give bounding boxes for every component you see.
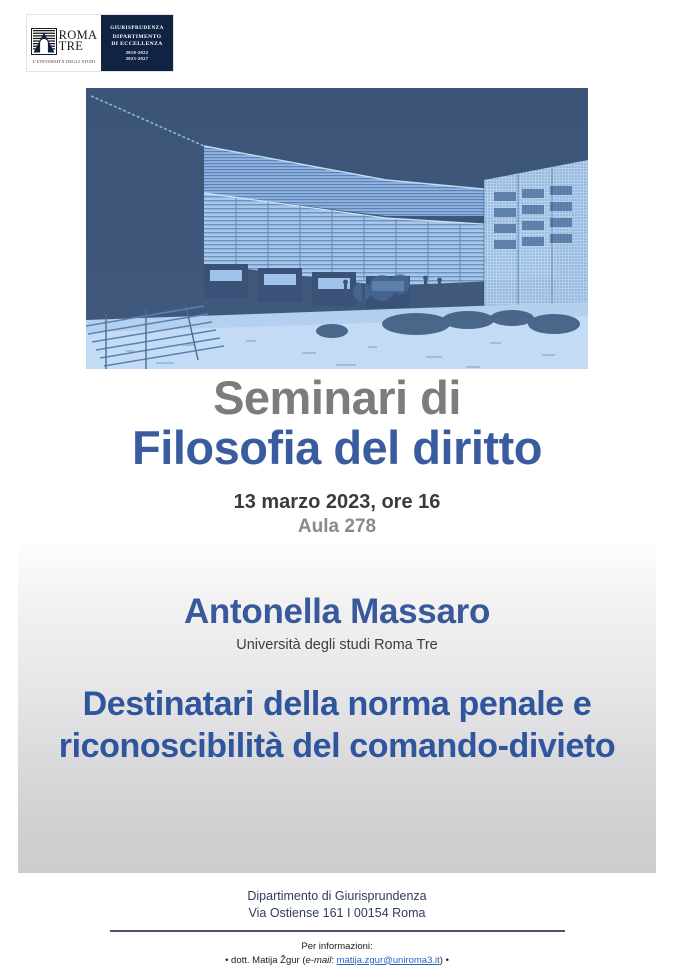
seminar-poster: ROMA TRE L'UNIVERSITÀ DEGLI STUDI GIURIS… bbox=[0, 0, 674, 978]
event-details: 13 marzo 2023, ore 16 Aula 278 bbox=[0, 490, 674, 539]
roma-tre-logo: ROMA TRE L'UNIVERSITÀ DEGLI STUDI bbox=[27, 15, 101, 71]
poster-heading: Seminari di Filosofia del diritto bbox=[0, 374, 674, 473]
heading-line-1: Seminari di bbox=[0, 374, 674, 422]
arch-icon bbox=[31, 28, 57, 55]
logo-tre-text: TRE bbox=[59, 41, 98, 53]
contact-colon: : bbox=[331, 955, 334, 966]
badge-title-line1: DIPARTIMENTO bbox=[113, 34, 162, 40]
speaker-affiliation: Università degli studi Roma Tre bbox=[18, 637, 656, 654]
contact-name: dott. Matija Žgur bbox=[231, 955, 300, 966]
badge-title: DIPARTIMENTO DI ECCELLENZA bbox=[111, 34, 162, 47]
badge-faculty: GIURISPRUDENZA bbox=[110, 25, 164, 31]
footer-street: Via Ostiense 161 I 00154 Roma bbox=[0, 905, 674, 922]
contact-email-link[interactable]: matija.zgur@uniroma3.it bbox=[337, 955, 440, 966]
footer-info: Per informazioni: • dott. Matija Žgur (e… bbox=[0, 940, 674, 968]
info-heading: Per informazioni: bbox=[0, 940, 674, 954]
logo-tagline: L'UNIVERSITÀ DEGLI STUDI bbox=[27, 59, 101, 64]
footer-divider bbox=[110, 930, 565, 932]
badge-title-line2: DI ECCELLENZA bbox=[111, 41, 162, 47]
roma-tre-logo-mark: ROMA TRE bbox=[31, 28, 98, 55]
event-date: 13 marzo 2023, ore 16 bbox=[0, 490, 674, 514]
contact-email-label: e-mail bbox=[306, 955, 332, 966]
badge-years-first: 2018-2022 bbox=[126, 50, 149, 55]
excellence-badge: GIURISPRUDENZA DIPARTIMENTO DI ECCELLENZ… bbox=[101, 15, 173, 71]
roma-tre-wordmark: ROMA TRE bbox=[59, 30, 98, 53]
speaker-panel: Antonella Massaro Università degli studi… bbox=[18, 544, 656, 873]
badge-years: 2018-2022 2023-2027 bbox=[126, 50, 149, 61]
speaker-name: Antonella Massaro bbox=[18, 544, 656, 631]
heading-line-2: Filosofia del diritto bbox=[0, 424, 674, 473]
event-room: Aula 278 bbox=[0, 515, 674, 539]
roma-tre-logo-block: ROMA TRE L'UNIVERSITÀ DEGLI STUDI GIURIS… bbox=[26, 14, 174, 72]
contact-paren-close: ) bbox=[440, 955, 443, 966]
badge-years-second: 2023-2027 bbox=[126, 56, 149, 61]
info-contact-line: • dott. Matija Žgur (e-mail: matija.zgur… bbox=[0, 954, 674, 968]
lecture-title: Destinatari della norma penale e riconos… bbox=[24, 684, 650, 767]
hero-image bbox=[86, 88, 588, 369]
bullet-right-icon: • bbox=[446, 955, 449, 966]
footer-department: Dipartimento di Giurisprundenza bbox=[0, 888, 674, 905]
footer-address: Dipartimento di Giurisprundenza Via Osti… bbox=[0, 888, 674, 921]
bullet-left-icon: • bbox=[225, 955, 228, 966]
